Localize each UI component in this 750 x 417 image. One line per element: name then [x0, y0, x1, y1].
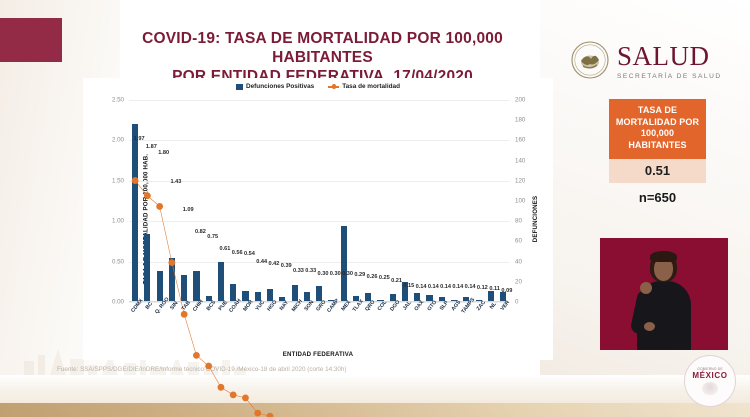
y-tick-right: 20 [515, 278, 522, 285]
data-label-tab: 1.09 [183, 207, 194, 213]
x-tick: TLAX [350, 302, 362, 346]
y-tick-right: 80 [515, 218, 522, 225]
line-point-sin[interactable] [168, 259, 175, 266]
line-point-yuc[interactable] [254, 410, 261, 417]
x-tick: QRO [362, 302, 374, 346]
mexico-eagle-seal-icon [570, 40, 610, 80]
line-point-bcs[interactable] [205, 363, 212, 370]
line-point-coah[interactable] [230, 391, 237, 398]
legend-label-defunciones: Defunciones Positivas [246, 83, 314, 90]
y-tick-right: 180 [515, 117, 525, 124]
x-tick: HGO [264, 302, 276, 346]
y-axis-left-ticks: 0.000.501.001.502.002.50 [87, 100, 127, 302]
salud-subtitle: SECRETARÍA DE SALUD [617, 73, 722, 80]
data-label-qro: 0.26 [367, 274, 378, 280]
tasa-mortalidad-polyline [135, 181, 503, 417]
line-point-hgo[interactable] [267, 413, 274, 417]
data-label-oax: 0.14 [416, 284, 427, 290]
y-tick-right: 100 [515, 198, 525, 205]
kpi-sample-size: n=650 [609, 183, 706, 205]
kpi-card: TASA DE MORTALIDAD POR 100,000 HABITANTE… [609, 99, 706, 205]
chart-legend: Defunciones Positivas Tasa de mortalidad [83, 83, 553, 90]
x-tick: GRO [313, 302, 325, 346]
y-tick-left: 1.00 [112, 218, 124, 225]
y-tick-left: 0.50 [112, 258, 124, 265]
data-label-pue: 0.61 [219, 246, 230, 252]
data-label-dgo: 0.21 [391, 278, 402, 284]
y-tick-right: 160 [515, 137, 525, 144]
legend-item-defunciones[interactable]: Defunciones Positivas [236, 83, 314, 90]
x-tick: NAY [276, 302, 288, 346]
x-tick: MICH [288, 302, 300, 346]
x-tick-label-ver: VER [500, 300, 511, 312]
x-tick: BCS [203, 302, 215, 346]
data-label-chih: 0.82 [195, 229, 206, 235]
data-label-mex: 0.30 [342, 271, 353, 277]
plot-area: 0.000.501.001.502.002.50 020406080100120… [129, 100, 509, 302]
x-tick: Q. ROO [154, 302, 166, 346]
y-tick-left: 2.50 [112, 97, 124, 104]
data-label-camp: 0.30 [330, 271, 341, 277]
y-tick-right: 60 [515, 238, 522, 245]
legend-item-tasa[interactable]: Tasa de mortalidad [328, 83, 400, 90]
x-tick: VER [497, 302, 509, 346]
slide-root: COVID-19: TASA DE MORTALIDAD POR 100,000… [0, 0, 750, 417]
interpreter-hand-lower [644, 322, 655, 331]
title-line-2: HABITANTES [95, 49, 550, 68]
data-label-yuc: 0.44 [256, 259, 267, 265]
line-point-mor[interactable] [242, 395, 249, 402]
x-tick: SLP [436, 302, 448, 346]
x-tick: CDMX [129, 302, 141, 346]
data-label-son: 0.33 [305, 268, 316, 274]
x-tick: SIN [166, 302, 178, 346]
x-tick: CHIH [190, 302, 202, 346]
gob-seal-emblem [702, 382, 718, 395]
x-tick: PUE [215, 302, 227, 346]
legend-bar-swatch-icon [236, 84, 243, 90]
data-label-col: 0.25 [379, 275, 390, 281]
x-tick: JAL [399, 302, 411, 346]
line-point-qroo[interactable] [156, 203, 163, 210]
data-label-cdmx: 1.97 [134, 136, 145, 142]
x-tick: TAB [178, 302, 190, 346]
background-maroon-band [0, 18, 62, 62]
y-tick-right: 200 [515, 97, 525, 104]
data-label-ags: 0.14 [452, 284, 463, 290]
gobierno-de-mexico-seal: GOBIERNO DE MÉXICO [684, 355, 736, 407]
x-tick: COAH [227, 302, 239, 346]
data-label-coah: 0.56 [232, 250, 243, 256]
line-point-pue[interactable] [218, 384, 225, 391]
x-tick: BC [141, 302, 153, 346]
line-point-bc[interactable] [144, 192, 151, 199]
data-label-jal: 0.15 [403, 283, 414, 289]
x-tick: DGO [387, 302, 399, 346]
data-label-mor: 0.54 [244, 251, 255, 257]
legend-line-marker-icon [328, 84, 339, 90]
x-tick: ZAC [472, 302, 484, 346]
salud-logo: SALUD SECRETARÍA DE SALUD [570, 34, 746, 86]
data-label-nay: 0.39 [281, 263, 292, 269]
legend-label-tasa: Tasa de mortalidad [342, 83, 400, 90]
chart-panel: Defunciones Positivas Tasa de mortalidad… [83, 78, 553, 360]
x-tick: MEX [338, 302, 350, 346]
data-label-gro: 0.30 [318, 271, 329, 277]
x-tick: GTO [423, 302, 435, 346]
kpi-value: 0.51 [609, 159, 706, 183]
data-label-sin: 1.43 [170, 179, 181, 185]
data-label-mich: 0.33 [293, 268, 304, 274]
x-tick: YUC [252, 302, 264, 346]
x-tick: NL [485, 302, 497, 346]
y-tick-left: 1.50 [112, 177, 124, 184]
line-point-cdmx[interactable] [132, 177, 139, 184]
x-axis-tick-labels: CDMXBCQ. ROOSINTABCHIHBCSPUECOAHMORYUCHG… [129, 302, 509, 346]
interpreter-hair [650, 251, 677, 262]
x-tick: AGS [448, 302, 460, 346]
data-label-qroo: 1.80 [158, 150, 169, 156]
data-label-slp: 0.14 [440, 284, 451, 290]
line-series-tasa-mortalidad [129, 100, 509, 417]
x-tick: SON [301, 302, 313, 346]
x-tick: MOR [239, 302, 251, 346]
x-tick: CAMP [325, 302, 337, 346]
x-tick: OAX [411, 302, 423, 346]
data-label-zac: 0.12 [477, 285, 488, 291]
salud-wordmark: SALUD [617, 43, 722, 70]
interpreter-hand-raised [640, 282, 652, 294]
data-label-tlax: 0.29 [354, 272, 365, 278]
kpi-heading: TASA DE MORTALIDAD POR 100,000 HABITANTE… [609, 99, 706, 159]
sign-language-interpreter-video[interactable] [600, 238, 728, 350]
data-label-tamps: 0.14 [465, 284, 476, 290]
data-label-nl: 0.11 [489, 286, 500, 292]
data-label-gto: 0.14 [428, 284, 439, 290]
gob-seal-name: MÉXICO [692, 371, 727, 380]
y-tick-left: 2.00 [112, 137, 124, 144]
y-tick-left: 0.00 [112, 299, 124, 306]
y-tick-right: 40 [515, 258, 522, 265]
y-tick-right: 0 [515, 299, 518, 306]
x-tick: COL [374, 302, 386, 346]
line-point-chih[interactable] [193, 352, 200, 359]
data-label-ver: 0.09 [501, 288, 512, 294]
y-tick-right: 120 [515, 177, 525, 184]
data-label-hgo: 0.42 [269, 261, 280, 267]
x-tick: TAMPS [460, 302, 472, 346]
data-label-bcs: 0.75 [207, 234, 218, 240]
title-line-1: COVID-19: TASA DE MORTALIDAD POR 100,000 [95, 30, 550, 49]
y-axis-right-ticks: 020406080100120140160180200 [511, 100, 551, 302]
y-tick-right: 140 [515, 157, 525, 164]
data-label-bc: 1.87 [146, 144, 157, 150]
